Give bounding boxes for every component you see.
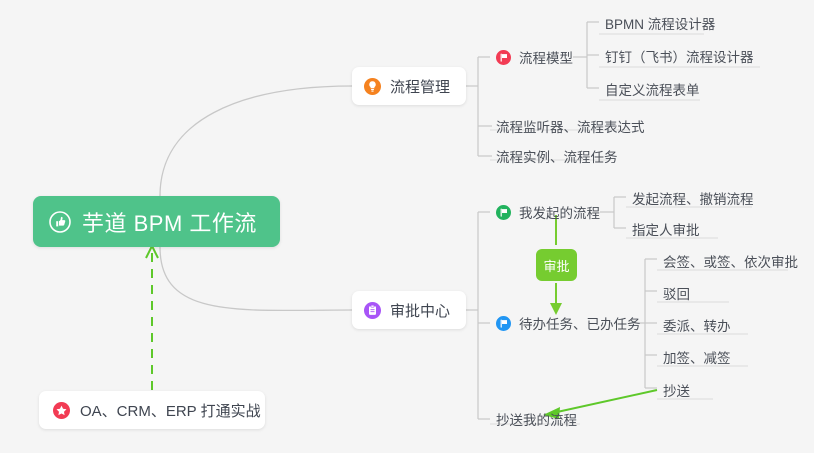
node-todo-done-tasks[interactable]: 待办任务、已办任务 <box>492 310 647 336</box>
thumbs-up-icon <box>49 211 71 233</box>
node-label-process-instance-task: 流程实例、流程任务 <box>496 146 618 166</box>
node-custom-process-form[interactable]: 自定义流程表单 <box>601 76 706 102</box>
flag-icon <box>496 316 511 331</box>
node-designated-approver[interactable]: 指定人审批 <box>628 216 706 242</box>
mindmap-canvas: 芋道 BPM 工作流 流程管理 审批中心 <box>0 0 814 453</box>
annotation-arrowhead-up <box>146 246 158 258</box>
node-process-instance-task[interactable]: 流程实例、流程任务 <box>492 143 624 169</box>
clipboard-icon <box>364 302 381 319</box>
integration-callout-card[interactable]: OA、CRM、ERP 打通实战 <box>39 391 265 429</box>
node-label-countersign-orsign-sequential: 会签、或签、依次审批 <box>663 251 798 271</box>
branch-card-process-management[interactable]: 流程管理 <box>352 67 466 105</box>
node-label-dingtalk-feishu-designer: 钉钉（飞书）流程设计器 <box>605 46 754 66</box>
branch-label-process-management: 流程管理 <box>390 76 450 97</box>
node-label-process-model: 流程模型 <box>519 47 573 67</box>
node-label-add-remove-sign: 加签、减签 <box>663 347 731 367</box>
node-add-remove-sign[interactable]: 加签、减签 <box>659 344 737 370</box>
node-label-todo-done-tasks: 待办任务、已办任务 <box>519 313 641 333</box>
node-label-custom-process-form: 自定义流程表单 <box>605 79 700 99</box>
node-label-reject: 驳回 <box>663 283 690 303</box>
node-bpmn-designer[interactable]: BPMN 流程设计器 <box>601 10 721 36</box>
node-start-cancel-process[interactable]: 发起流程、撤销流程 <box>628 185 760 211</box>
node-label-cc: 抄送 <box>663 380 690 400</box>
approval-badge[interactable]: 审批 <box>536 249 577 281</box>
node-process-model[interactable]: 流程模型 <box>492 44 579 70</box>
lightbulb-icon <box>364 78 381 95</box>
node-label-start-cancel-process: 发起流程、撤销流程 <box>632 188 754 208</box>
node-cc[interactable]: 抄送 <box>659 377 696 403</box>
integration-callout-label: OA、CRM、ERP 打通实战 <box>80 400 261 421</box>
node-label-my-initiated-process: 我发起的流程 <box>519 202 600 222</box>
star-icon <box>53 402 70 419</box>
node-reject[interactable]: 驳回 <box>659 280 696 306</box>
node-my-initiated-process[interactable]: 我发起的流程 <box>492 199 606 225</box>
flag-icon <box>496 205 511 220</box>
link-root-to-process-management <box>160 86 352 196</box>
root-node[interactable]: 芋道 BPM 工作流 <box>33 196 280 247</box>
node-dingtalk-feishu-designer[interactable]: 钉钉（飞书）流程设计器 <box>601 43 760 69</box>
node-delegate-transfer[interactable]: 委派、转办 <box>659 312 737 338</box>
node-label-bpmn-designer: BPMN 流程设计器 <box>605 13 715 33</box>
node-label-cc-to-me-process: 抄送我的流程 <box>496 409 577 429</box>
root-label: 芋道 BPM 工作流 <box>82 206 257 238</box>
node-label-process-listener-expression: 流程监听器、流程表达式 <box>496 116 645 136</box>
flag-icon <box>496 50 511 65</box>
node-label-delegate-transfer: 委派、转办 <box>663 315 731 335</box>
link-root-to-approval-center <box>160 247 352 310</box>
node-process-listener-expression[interactable]: 流程监听器、流程表达式 <box>492 113 651 139</box>
branch-card-approval-center[interactable]: 审批中心 <box>352 291 466 329</box>
node-countersign-orsign-sequential[interactable]: 会签、或签、依次审批 <box>659 248 804 274</box>
node-cc-to-me-process[interactable]: 抄送我的流程 <box>492 406 583 432</box>
branch-label-approval-center: 审批中心 <box>390 300 450 321</box>
node-label-designated-approver: 指定人审批 <box>632 219 700 239</box>
approval-badge-label: 审批 <box>543 256 569 275</box>
